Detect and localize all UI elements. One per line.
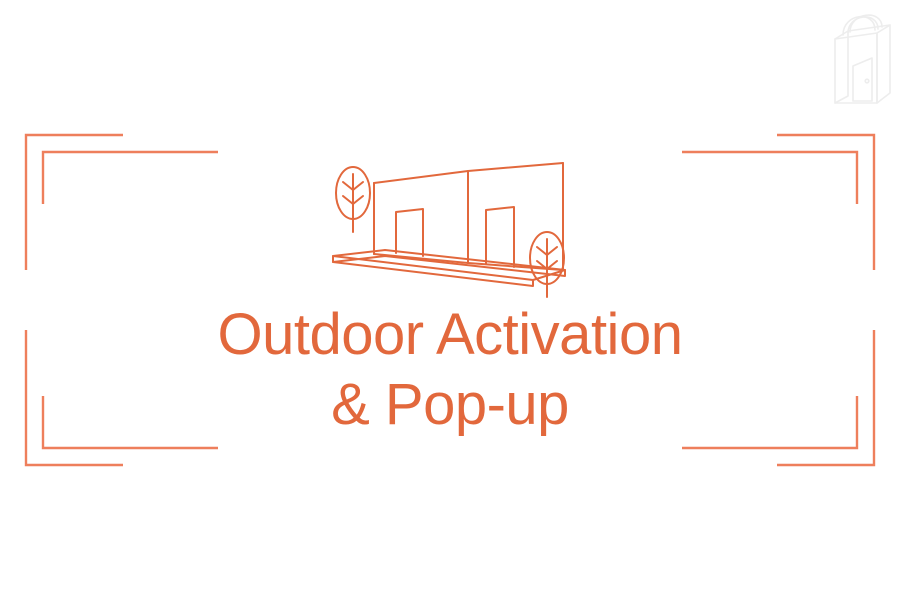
bracket-top-left-inner — [43, 152, 218, 204]
bag-inner-edge — [835, 31, 848, 103]
title-line-2: & Pop-up — [0, 370, 900, 440]
shopping-bag-icon — [820, 8, 900, 108]
bracket-top-right-inner — [682, 152, 857, 204]
bracket-top-left-outer — [26, 135, 123, 270]
title-line-1: Outdoor Activation — [0, 300, 900, 370]
right-tree-icon — [530, 232, 564, 297]
bag-front-face — [835, 33, 877, 103]
page-title: Outdoor Activation & Pop-up — [0, 300, 900, 440]
slide-canvas: Outdoor Activation & Pop-up — [0, 0, 900, 600]
bag-door-shape — [853, 58, 872, 101]
left-tree-icon — [336, 167, 370, 232]
left-doorway — [396, 209, 423, 256]
bag-side-face — [877, 25, 890, 103]
outdoor-venue-illustration — [325, 150, 575, 300]
bracket-top-right-outer — [777, 135, 874, 270]
right-doorway — [486, 207, 514, 267]
shopping-bag-glyph — [820, 8, 900, 108]
bag-door-knob — [865, 79, 869, 83]
venue-line-art — [325, 150, 575, 300]
